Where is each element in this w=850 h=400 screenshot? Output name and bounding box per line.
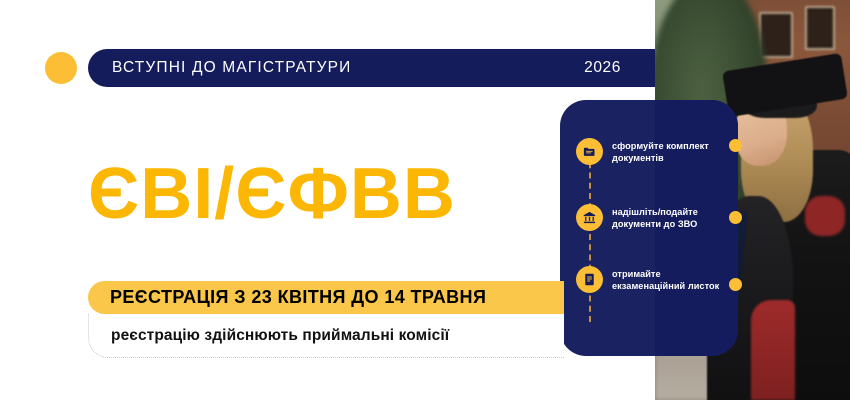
subtitle-text: реєстрацію здійснюють приймальні комісії (111, 327, 449, 345)
step-item: отримайте екзаменаційний листок (576, 266, 736, 293)
page-title: ЄВІ/ЄФВВ (88, 158, 456, 230)
steps-list: сформуйте комплект документів надішліть/… (560, 100, 738, 356)
registration-banner: РЕЄСТРАЦІЯ З 23 КВІТНЯ ДО 14 ТРАВНЯ (88, 281, 564, 314)
topbar-label: ВСТУПНІ ДО МАГІСТРАТУРИ (112, 59, 351, 77)
topbar-year: 2026 (584, 59, 621, 77)
topbar: ВСТУПНІ ДО МАГІСТРАТУРИ 2026 (88, 49, 655, 87)
edge-dot-icon (729, 211, 742, 224)
registration-dates: РЕЄСТРАЦІЯ З 23 КВІТНЯ ДО 14 ТРАВНЯ (110, 287, 486, 308)
step-item: надішліть/подайте документи до ЗВО (576, 204, 736, 231)
step-label: отримайте екзаменаційний листок (612, 266, 736, 292)
promo-banner: ВСТУПНІ ДО МАГІСТРАТУРИ 2026 ЄВІ/ЄФВВ сф… (0, 0, 850, 400)
certificate-document-icon (576, 266, 603, 293)
steps-card: сформуйте комплект документів надішліть/… (560, 100, 738, 356)
photo-window (805, 6, 835, 50)
step-item: сформуйте комплект документів (576, 138, 736, 165)
steps-connector-line (589, 152, 591, 322)
subtitle-band: реєстрацію здійснюють приймальні комісії (88, 314, 564, 358)
edge-dot-icon (729, 139, 742, 152)
graduate-red-stole (751, 300, 795, 400)
graduate-red-hood (805, 196, 845, 236)
step-label: сформуйте комплект документів (612, 138, 736, 164)
edge-dot-icon (729, 278, 742, 291)
folder-documents-icon (576, 138, 603, 165)
accent-dot-icon (45, 52, 77, 84)
institution-icon (576, 204, 603, 231)
step-label: надішліть/подайте документи до ЗВО (612, 204, 736, 230)
